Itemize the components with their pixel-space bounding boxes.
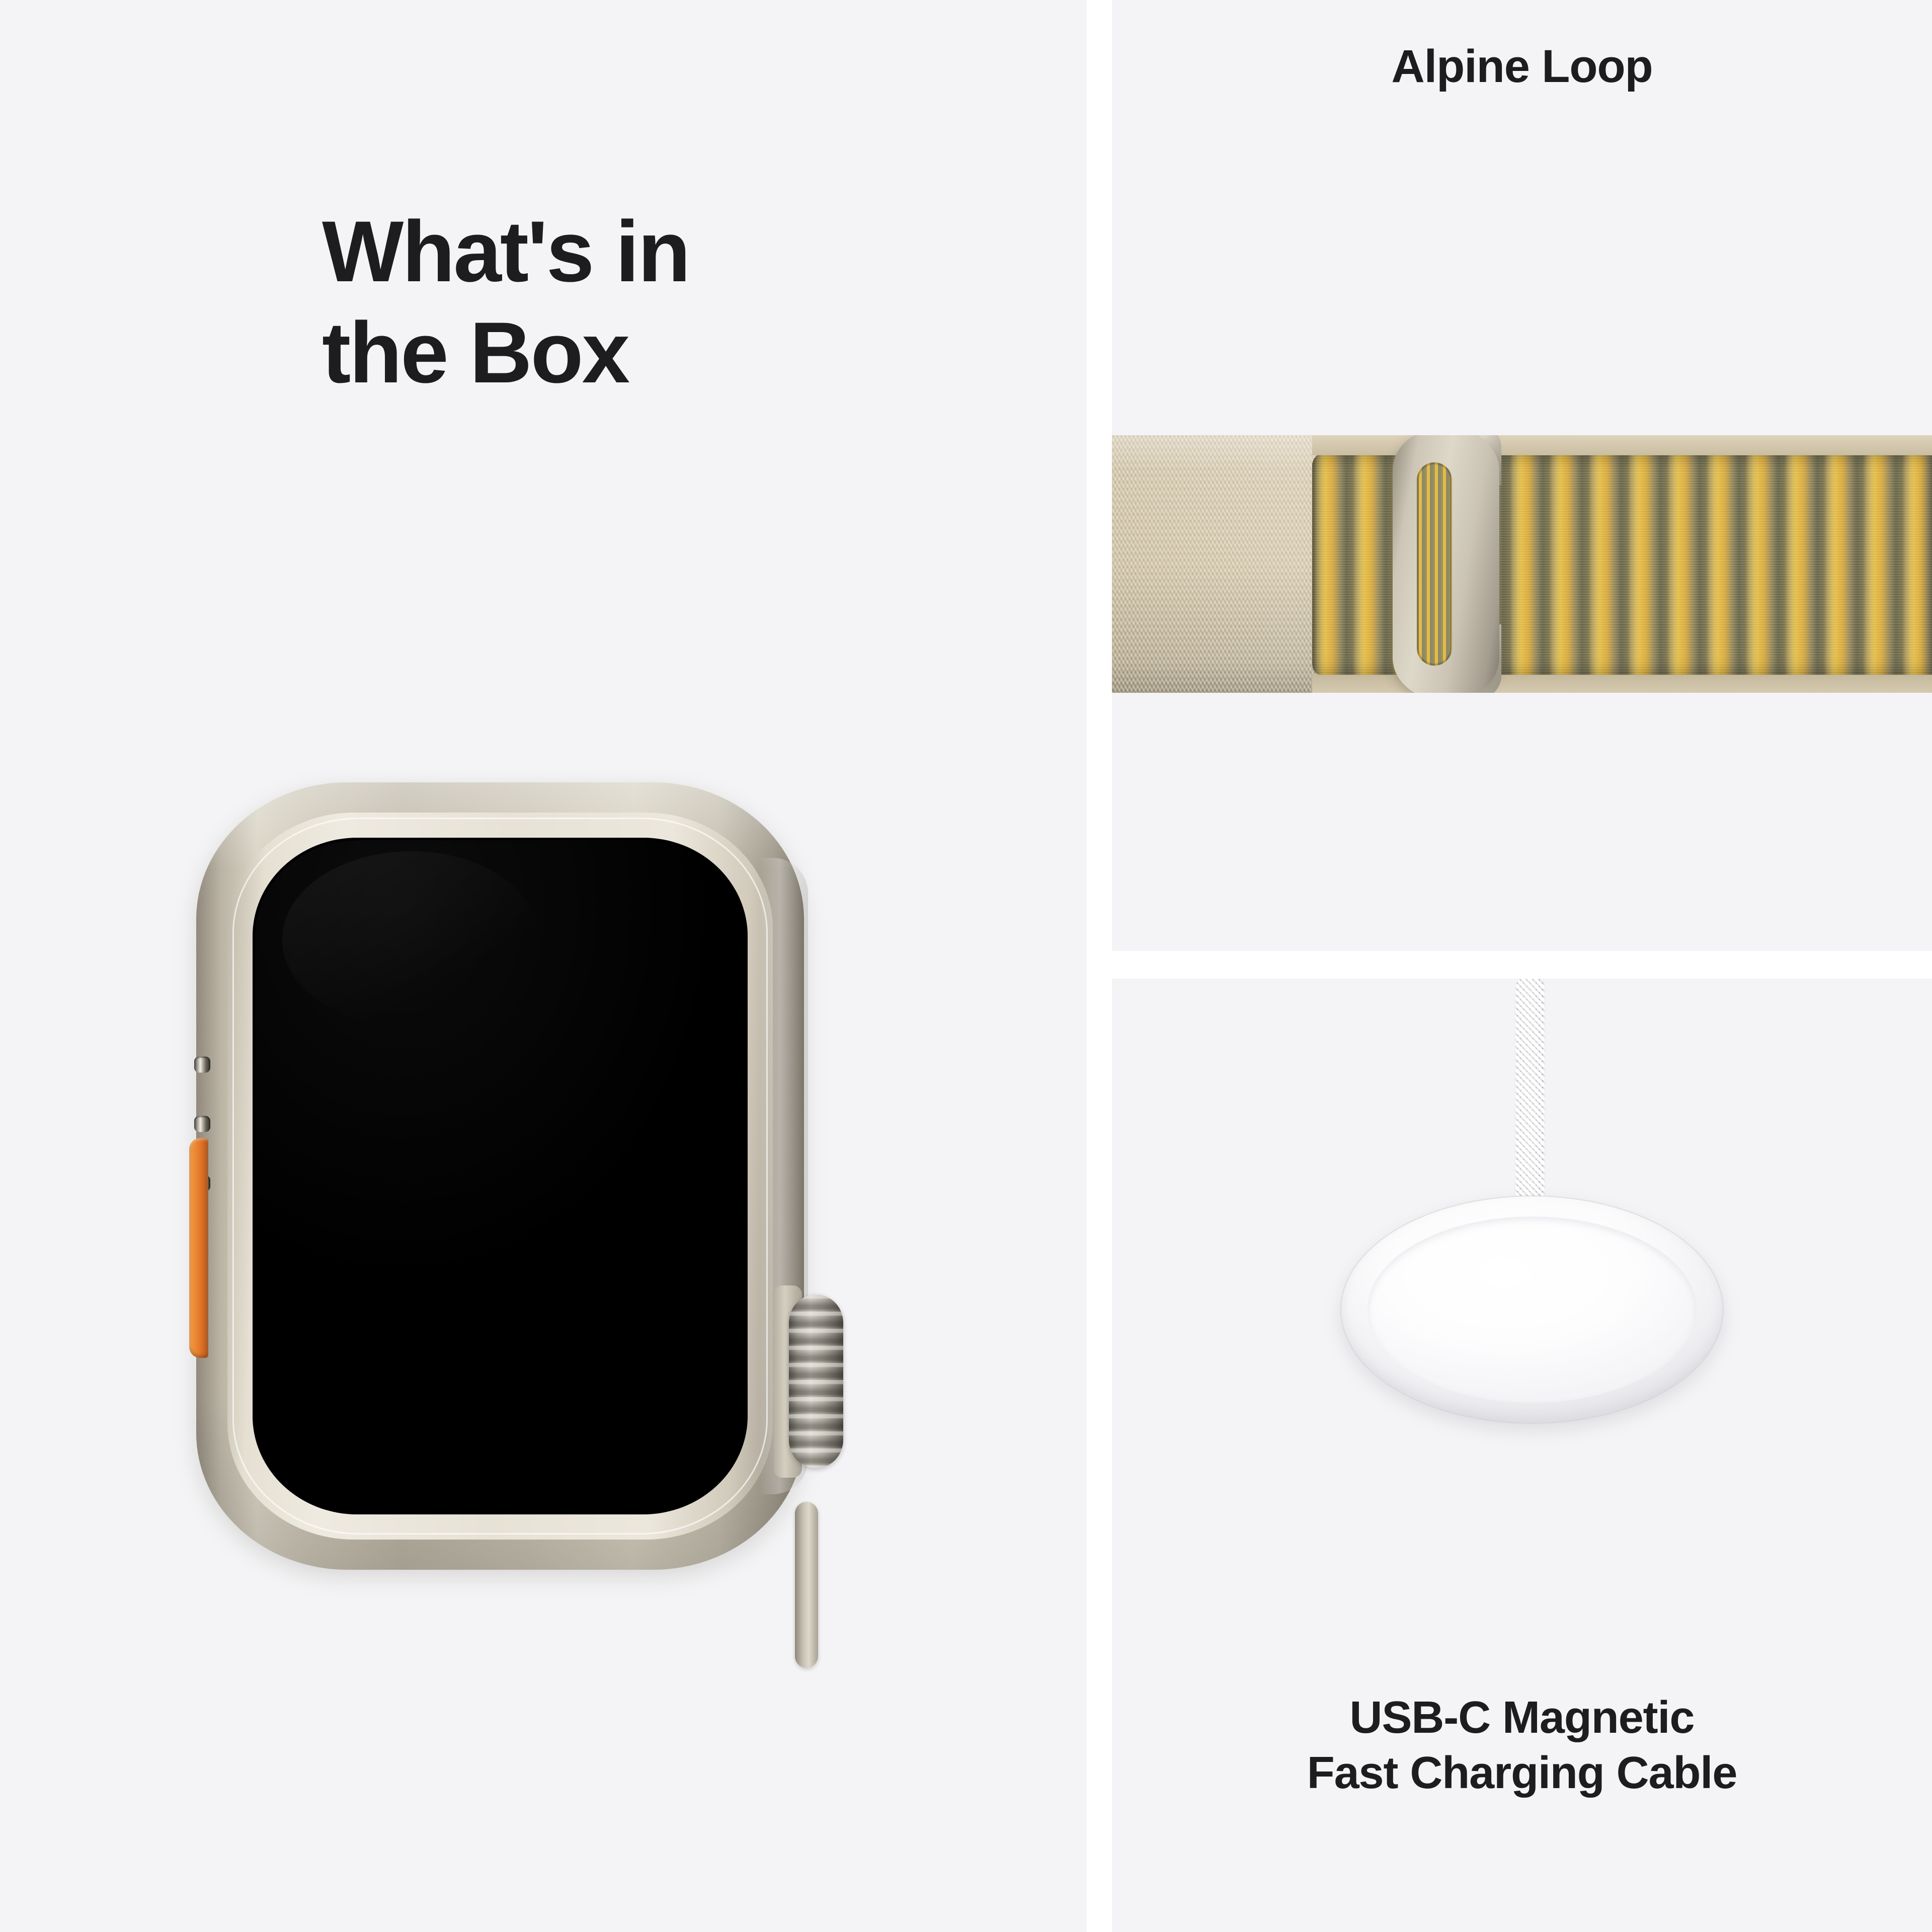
- magnetic-charging-puck: [1341, 1196, 1723, 1423]
- alpine-loop-band-image: [1112, 435, 1932, 693]
- apple-watch-ultra-image: [196, 782, 870, 1570]
- panel-whats-in-the-box: What's in the Box: [0, 0, 1087, 1932]
- speaker-hole: [194, 1057, 210, 1073]
- page-title: What's in the Box: [322, 201, 926, 404]
- charging-cable-caption-line-1: USB-C Magnetic: [1112, 1691, 1932, 1746]
- alpine-loop-title: Alpine Loop: [1112, 40, 1932, 93]
- action-button[interactable]: [189, 1138, 208, 1358]
- band-g-hook-buckle: [1393, 435, 1499, 693]
- watch-display: [253, 838, 748, 1514]
- panel-charging-cable: USB-C Magnetic Fast Charging Cable: [1112, 979, 1932, 1932]
- side-button[interactable]: [795, 1502, 818, 1668]
- digital-crown[interactable]: [789, 1295, 843, 1468]
- page-title-line-1: What's in: [322, 201, 926, 302]
- speaker-hole: [194, 1116, 210, 1132]
- panel-alpine-loop: Alpine Loop: [1112, 0, 1932, 951]
- buckle-slot: [1417, 462, 1452, 666]
- product-grid: What's in the Box Alpine Loop: [0, 0, 1932, 1932]
- charging-cable-caption: USB-C Magnetic Fast Charging Cable: [1112, 1691, 1932, 1801]
- page-title-line-2: the Box: [322, 302, 926, 404]
- charging-cable-caption-line-2: Fast Charging Cable: [1112, 1746, 1932, 1801]
